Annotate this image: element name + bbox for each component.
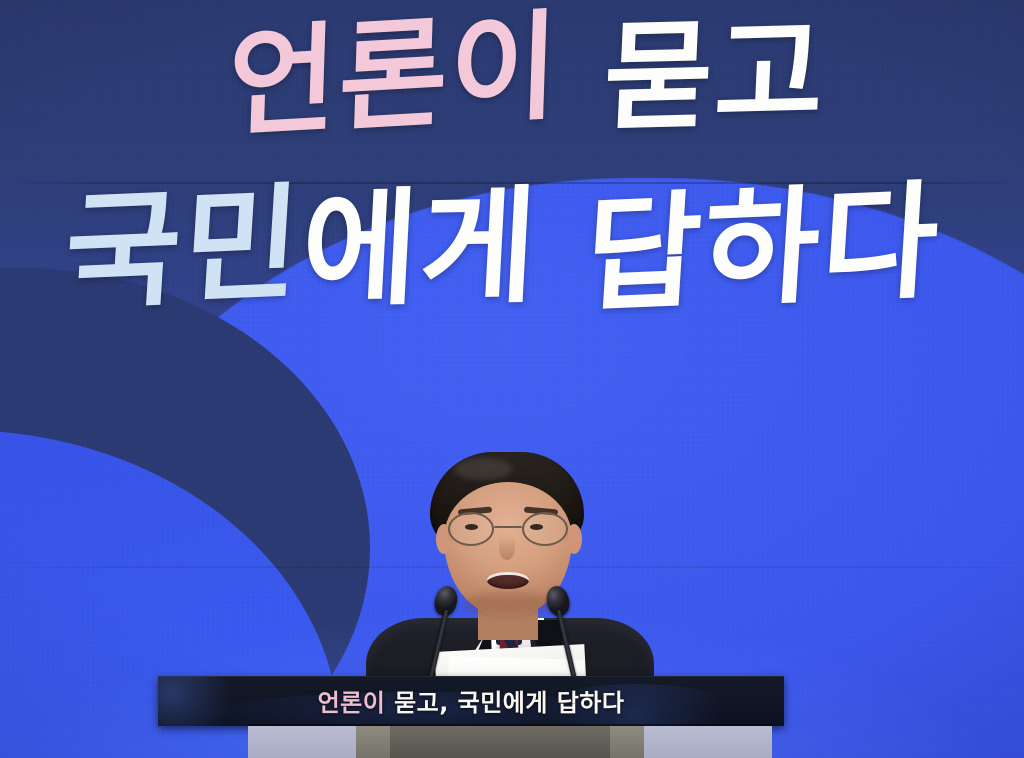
eyeglass-lens-right bbox=[522, 512, 568, 546]
backdrop-headline: 언론이 묻고 국민에게 답하다 bbox=[0, 16, 1024, 312]
podium-sign-segment-1: 언론이 bbox=[318, 689, 386, 717]
headline-line-2: 국민에게 답하다 bbox=[0, 186, 1024, 312]
chin-shadow bbox=[462, 592, 554, 616]
headline-word-mutgo: 묻고 bbox=[602, 13, 829, 137]
headline-word-ege: 에게 bbox=[299, 184, 542, 314]
press-conference-screenshot: 언론이 묻고 국민에게 답하다 bbox=[0, 0, 1024, 758]
podium-base-column-left bbox=[356, 726, 390, 758]
eyeglass-bridge bbox=[494, 526, 522, 528]
headline-word-dabhada: 답하다 bbox=[582, 178, 945, 319]
speaker-figure bbox=[344, 452, 674, 702]
nose bbox=[499, 536, 515, 560]
podium-sign-text: 언론이 묻고, 국민에게 답하다 bbox=[158, 683, 784, 718]
headline-word-gukmin: 국민 bbox=[61, 181, 306, 317]
eyeglass-lens-left bbox=[448, 512, 494, 546]
podium-base-center bbox=[390, 726, 610, 758]
headline-line-1: 언론이 묻고 bbox=[0, 16, 1024, 134]
mouth-speaking bbox=[487, 572, 529, 589]
podium-sign-segment-3: 국민에게 답하다 bbox=[458, 689, 625, 717]
podium-sign-segment-2: 묻고, bbox=[385, 689, 457, 717]
podium-base-column-right bbox=[610, 726, 644, 758]
podium-sign-panel: 언론이 묻고, 국민에게 답하다 bbox=[158, 676, 784, 726]
headline-word-eonroni: 언론이 bbox=[226, 7, 562, 144]
